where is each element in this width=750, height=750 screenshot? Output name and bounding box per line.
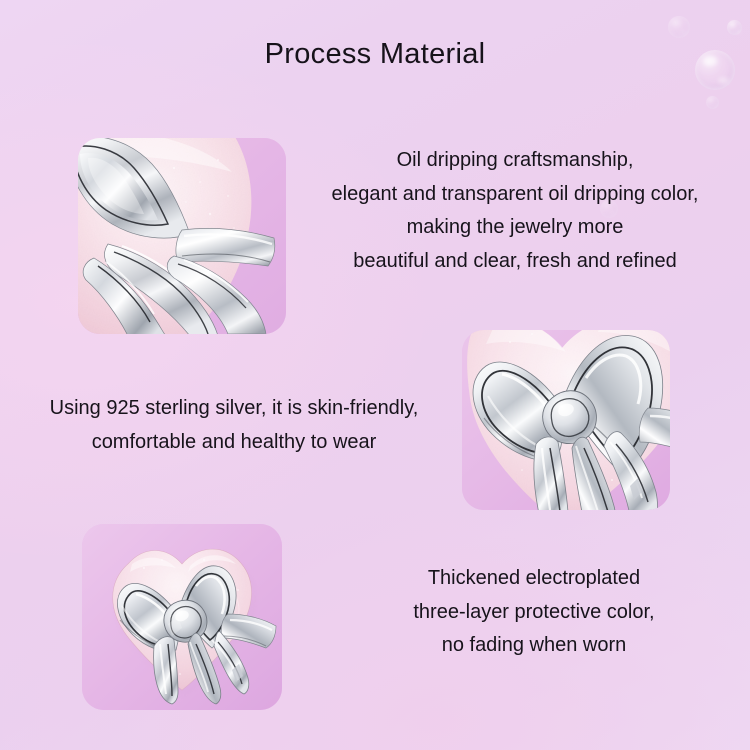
copy-line: elegant and transparent oil dripping col…	[300, 178, 730, 212]
charm-macro-closeup-image	[78, 138, 286, 334]
copy-block-oil-dripping: Oil dripping craftsmanship, elegant and …	[300, 144, 730, 278]
copy-line: Oil dripping craftsmanship,	[300, 144, 730, 178]
copy-block-sterling-silver: Using 925 sterling silver, it is skin-fr…	[8, 392, 460, 459]
charm-full-heart-image	[82, 524, 282, 710]
card-charm-full-heart	[82, 524, 282, 710]
bubble-small-icon	[727, 20, 742, 35]
copy-line: no fading when worn	[338, 629, 730, 663]
copy-line: beautiful and clear, fresh and refined	[300, 245, 730, 279]
bubble-tiny-icon	[706, 96, 719, 109]
card-charm-bow-detail	[462, 330, 670, 510]
card-charm-macro-closeup	[78, 138, 286, 334]
copy-line: making the jewelry more	[300, 211, 730, 245]
copy-line: Using 925 sterling silver, it is skin-fr…	[8, 392, 460, 426]
product-detail-banner: Process Material	[0, 0, 750, 750]
bubble-medium-icon	[668, 16, 690, 38]
copy-line: Thickened electroplated	[338, 562, 730, 596]
copy-line: comfortable and healthy to wear	[8, 426, 460, 460]
page-title: Process Material	[0, 38, 750, 71]
copy-line: three-layer protective color,	[338, 596, 730, 630]
copy-block-electroplated: Thickened electroplated three-layer prot…	[338, 562, 730, 663]
charm-bow-detail-image	[462, 330, 670, 510]
